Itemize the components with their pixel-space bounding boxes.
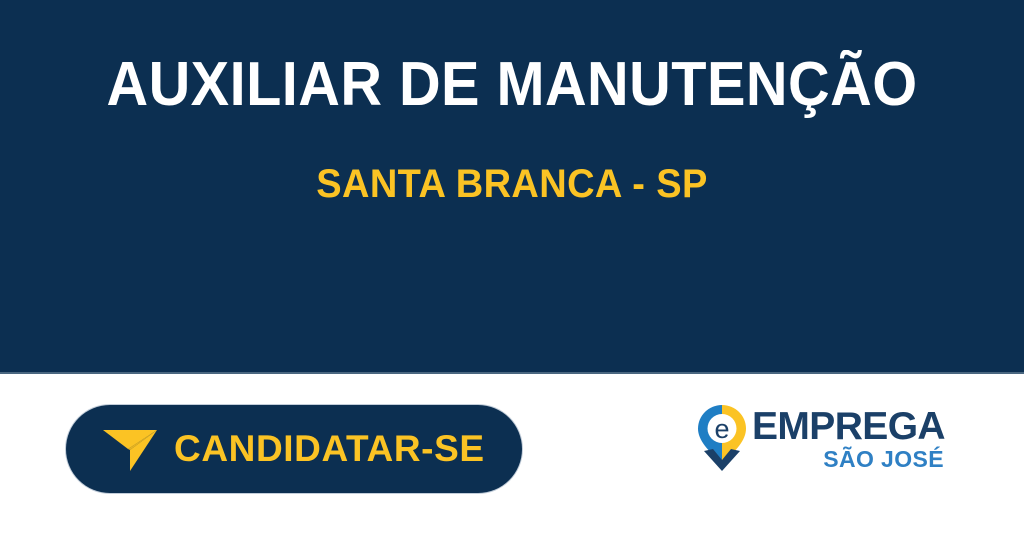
brand-wordmark: EMPREGA SÃO JOSÉ: [752, 406, 945, 471]
svg-text:e: e: [714, 414, 729, 444]
send-paper-plane-icon: [100, 419, 160, 479]
hero-content: AUXILIAR DE MANUTENÇÃO SANTA BRANCA - SP: [0, 0, 1024, 372]
footer-bar: CANDIDATAR-SE e EMPREGA: [0, 374, 1024, 538]
brand-logo[interactable]: e EMPREGA SÃO JOSÉ: [696, 398, 906, 478]
brand-name-secondary: SÃO JOSÉ: [823, 447, 944, 471]
apply-button-label: CANDIDATAR-SE: [174, 428, 485, 470]
job-location: SANTA BRANCA - SP: [56, 162, 968, 206]
job-posting-card: AUXILIAR DE MANUTENÇÃO SANTA BRANCA - SP…: [0, 0, 1024, 538]
job-title: AUXILIAR DE MANUTENÇÃO: [66, 52, 959, 118]
apply-button[interactable]: CANDIDATAR-SE: [66, 405, 522, 493]
map-pin-e-icon: e: [696, 403, 748, 473]
brand-name-primary: EMPREGA: [752, 408, 945, 446]
hero-banner: AUXILIAR DE MANUTENÇÃO SANTA BRANCA - SP: [0, 0, 1024, 374]
